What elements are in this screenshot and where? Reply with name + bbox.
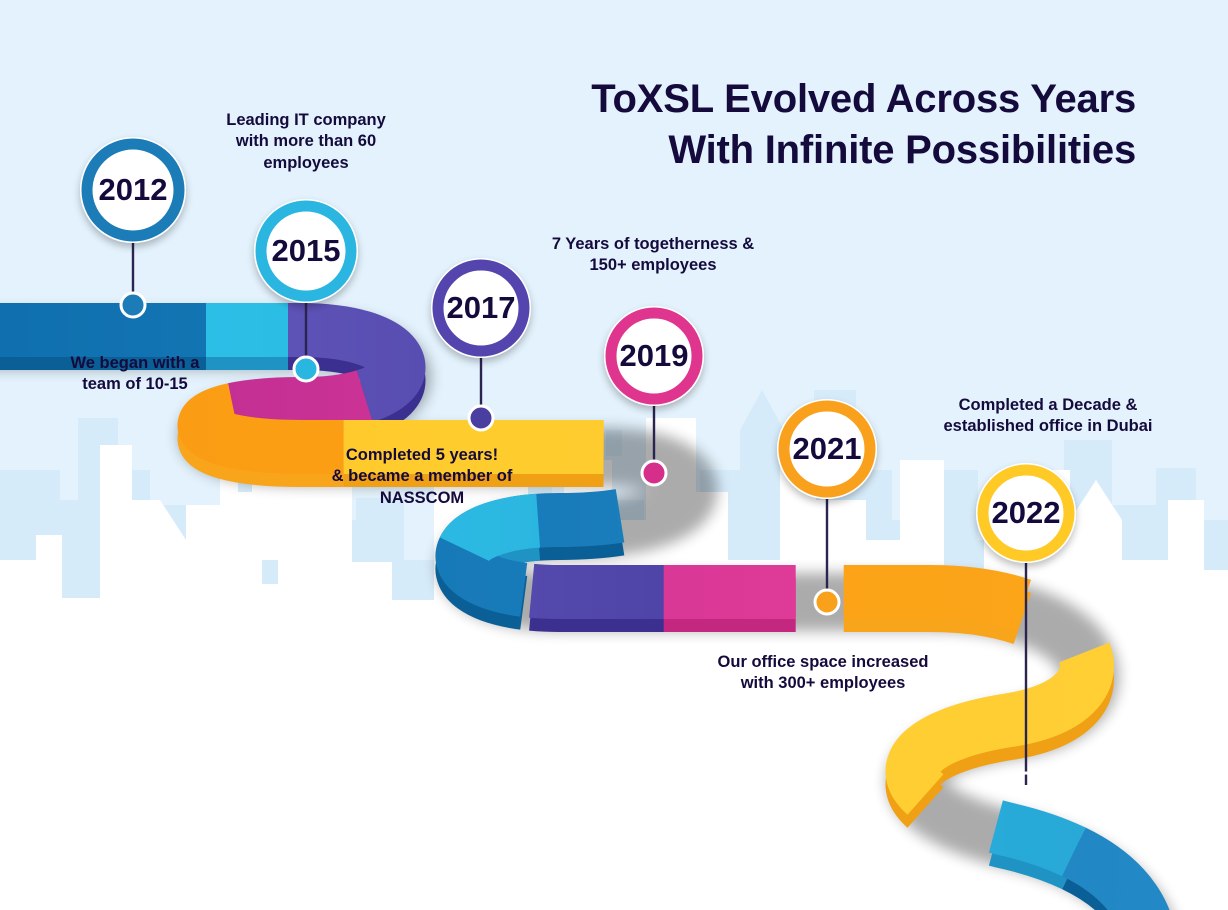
text-layer: ToXSL Evolved Across Years With Infinite… [0,0,1228,910]
caption-2015-line-1: Leading IT company [202,110,410,131]
caption-2012-line-1: We began with a [30,353,240,374]
caption-2015: Leading IT company with more than 60 emp… [202,110,410,174]
year-label-2012: 2012 [78,172,188,208]
caption-2019: 7 Years of togetherness & 150+ employees [528,234,778,277]
year-label-2017: 2017 [426,290,536,326]
caption-2012: We began with a team of 10-15 [30,353,240,396]
year-label-2019: 2019 [599,338,709,374]
caption-2019-line-1: 7 Years of togetherness & [528,234,778,255]
caption-2022-line-1: Completed a Decade & [908,395,1188,416]
page-title: ToXSL Evolved Across Years With Infinite… [516,74,1136,176]
caption-2021-line-2: with 300+ employees [694,673,952,694]
caption-2022: Completed a Decade & established office … [908,395,1188,438]
caption-2017: Completed 5 years! & became a member of … [300,445,544,509]
caption-2017-line-1: Completed 5 years! [300,445,544,466]
caption-2019-line-2: 150+ employees [528,255,778,276]
caption-2021: Our office space increased with 300+ emp… [694,652,952,695]
caption-2012-line-2: team of 10-15 [30,374,240,395]
caption-2022-line-2: established office in Dubai [908,416,1188,437]
caption-2017-line-3: NASSCOM [300,488,544,509]
caption-2017-line-2: & became a member of [300,466,544,487]
caption-2015-line-2: with more than 60 [202,131,410,152]
year-label-2022: 2022 [971,495,1081,531]
year-label-2015: 2015 [251,233,361,269]
caption-2021-line-1: Our office space increased [694,652,952,673]
title-line-1: ToXSL Evolved Across Years [516,74,1136,125]
year-label-2021: 2021 [772,431,882,467]
infographic-canvas: ToXSL Evolved Across Years With Infinite… [0,0,1228,910]
title-line-2: With Infinite Possibilities [516,125,1136,176]
caption-2015-line-3: employees [202,153,410,174]
